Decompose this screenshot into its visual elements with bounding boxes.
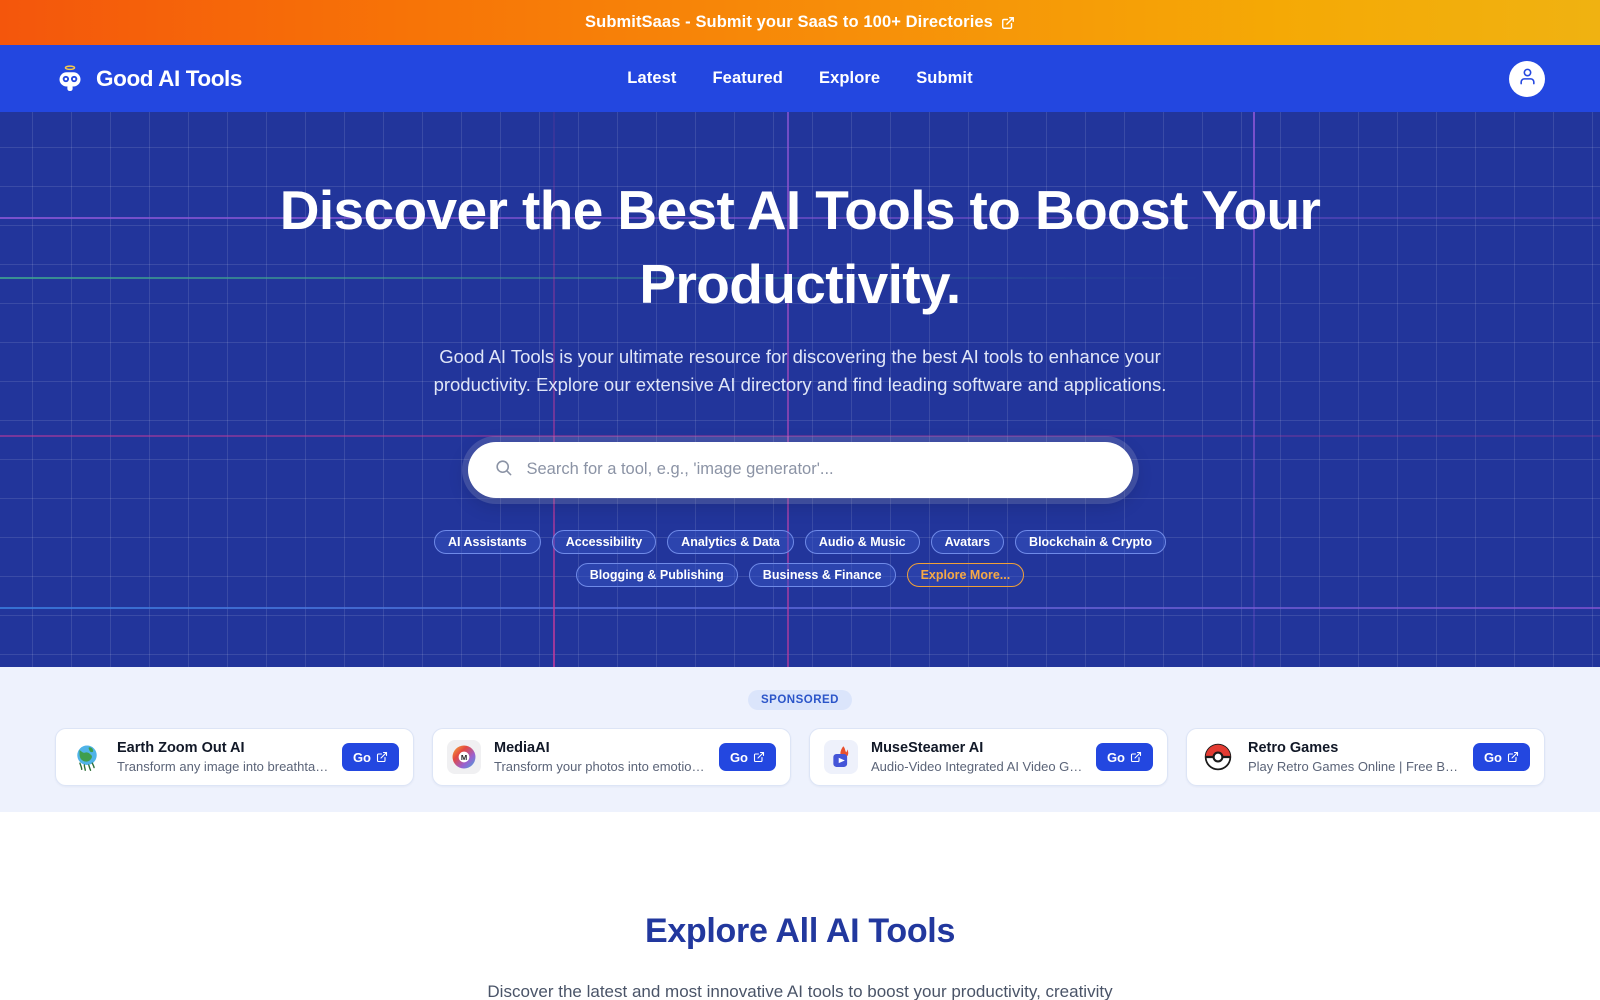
sponsored-badge: SPONSORED [748,690,852,710]
hero-subtitle: Good AI Tools is your ultimate resource … [430,343,1170,399]
user-avatar-icon [1518,67,1537,91]
go-button-label: Go [730,750,748,765]
account-button[interactable] [1509,61,1545,97]
search-bar[interactable] [468,442,1133,498]
musesteamer-icon [824,740,858,774]
sponsored-card-name: MediaAI [494,740,706,756]
sponsored-go-button[interactable]: Go [342,743,399,771]
sponsored-card-name: MuseSteamer AI [871,740,1083,756]
external-link-icon [1130,751,1142,763]
sponsored-card-desc: Play Retro Games Online | Free Browser..… [1248,759,1460,774]
main-navbar: Good AI Tools Latest Featured Explore Su… [0,45,1600,112]
nav-link-latest[interactable]: Latest [627,69,676,88]
svg-text:M: M [461,753,467,762]
category-tag-list: AI Assistants Accessibility Analytics & … [370,530,1230,587]
brand-logo[interactable]: Good AI Tools [55,64,242,94]
media-ai-rainbow-icon: M [447,740,481,774]
external-link-icon [1001,16,1015,30]
nav-link-featured[interactable]: Featured [712,69,782,88]
external-link-icon [376,751,388,763]
robot-halo-icon [55,64,85,94]
sponsored-card-musesteamer-ai[interactable]: MuseSteamer AI Audio-Video Integrated AI… [809,728,1168,786]
hero-section: Discover the Best AI Tools to Boost Your… [0,112,1600,667]
sponsored-go-button[interactable]: Go [1473,743,1530,771]
category-tag-explore-more[interactable]: Explore More... [907,563,1025,587]
promo-banner-label: SubmitSaas - Submit your SaaS to 100+ Di… [585,13,993,32]
go-button-label: Go [1107,750,1125,765]
promo-banner-link[interactable]: SubmitSaas - Submit your SaaS to 100+ Di… [585,13,1015,32]
category-tag-analytics-data[interactable]: Analytics & Data [667,530,794,554]
category-tag-audio-music[interactable]: Audio & Music [805,530,920,554]
sponsored-card-desc: Transform any image into breathtaking E.… [117,759,329,774]
external-link-icon [1507,751,1519,763]
external-link-icon [753,751,765,763]
globe-earth-icon [70,740,104,774]
search-icon [494,458,513,482]
go-button-label: Go [1484,750,1502,765]
nav-link-submit[interactable]: Submit [916,69,973,88]
sponsored-card-mediaai[interactable]: M MediaAI Transform your photos into emo… [432,728,791,786]
explore-subtitle: Discover the latest and most innovative … [350,979,1250,1000]
category-tag-avatars[interactable]: Avatars [931,530,1004,554]
sponsored-card-name: Retro Games [1248,740,1460,756]
sponsored-section: SPONSORED Earth Zoom Out AI Transform an… [0,667,1600,812]
category-tag-blockchain-crypto[interactable]: Blockchain & Crypto [1015,530,1166,554]
sponsored-card-name: Earth Zoom Out AI [117,740,329,756]
search-input[interactable] [527,460,1107,479]
explore-title: Explore All AI Tools [0,912,1600,951]
hero-title: Discover the Best AI Tools to Boost Your… [205,174,1395,321]
explore-section: Explore All AI Tools Discover the latest… [0,812,1600,1000]
category-tag-blogging-publishing[interactable]: Blogging & Publishing [576,563,738,587]
brand-name: Good AI Tools [96,66,242,92]
sponsored-card-desc: Audio-Video Integrated AI Video Generato… [871,759,1083,774]
category-tag-ai-assistants[interactable]: AI Assistants [434,530,541,554]
sponsored-card-earth-zoom-out-ai[interactable]: Earth Zoom Out AI Transform any image in… [55,728,414,786]
sponsored-go-button[interactable]: Go [1096,743,1153,771]
promo-banner[interactable]: SubmitSaas - Submit your SaaS to 100+ Di… [0,0,1600,45]
sponsored-card-list: Earth Zoom Out AI Transform any image in… [0,728,1600,786]
sponsored-go-button[interactable]: Go [719,743,776,771]
go-button-label: Go [353,750,371,765]
nav-link-explore[interactable]: Explore [819,69,880,88]
sponsored-card-retro-games[interactable]: Retro Games Play Retro Games Online | Fr… [1186,728,1545,786]
nav-links: Latest Featured Explore Submit [627,69,972,88]
category-tag-accessibility[interactable]: Accessibility [552,530,656,554]
category-tag-business-finance[interactable]: Business & Finance [749,563,896,587]
sponsored-card-desc: Transform your photos into emotional art… [494,759,706,774]
pokeball-icon [1201,740,1235,774]
